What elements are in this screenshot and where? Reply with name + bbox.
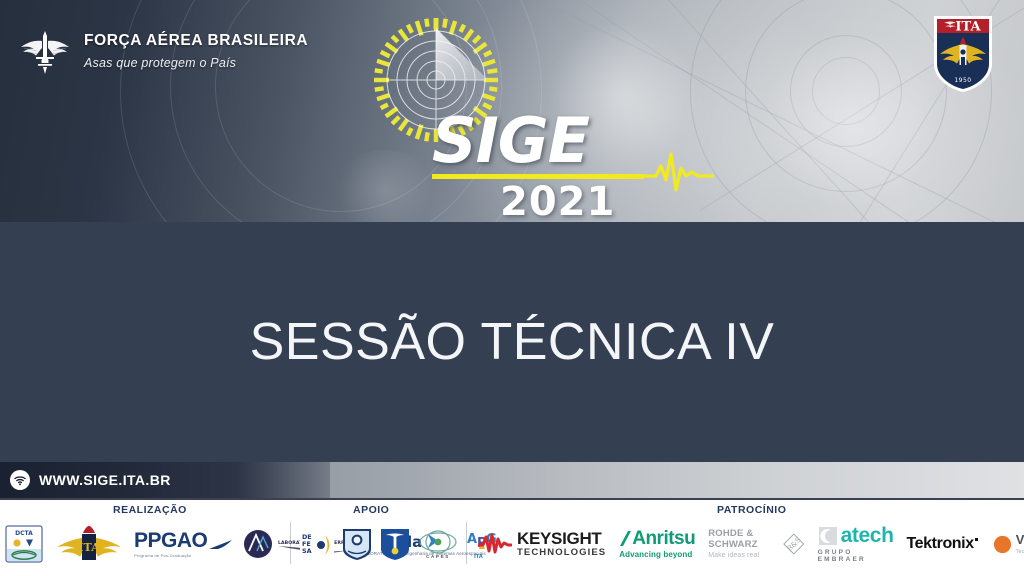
ppgao-swoosh-icon bbox=[208, 537, 234, 551]
apoio-shield-2-logo[interactable] bbox=[380, 527, 410, 561]
visiona-logo[interactable]: VISIONA Tecnologia Espacial bbox=[993, 533, 1024, 555]
keysight-wave-icon bbox=[478, 533, 512, 555]
website-link[interactable]: WWW.SIGE.ITA.BR bbox=[10, 462, 171, 498]
ppgao-logo[interactable]: PPGAO Programa de Pós-Graduação bbox=[134, 530, 234, 558]
ita-wings-logo[interactable]: ITA bbox=[53, 525, 125, 563]
visiona-tagline: Tecnologia Espacial bbox=[1016, 549, 1024, 555]
svg-text:SA: SA bbox=[302, 547, 312, 555]
rohde-schwarz-logo[interactable]: ROHDE & SCHWARZ Make ideas real bbox=[708, 529, 770, 559]
tektronix-tick-icon bbox=[975, 537, 980, 551]
svg-text:ITA: ITA bbox=[955, 20, 981, 35]
fab-title: FORÇA AÉREA BRASILEIRA bbox=[84, 32, 308, 50]
section-label-patrocinio: PATROCÍNIO bbox=[717, 504, 786, 516]
sige-year: 2021 bbox=[500, 182, 615, 222]
svg-text:1950: 1950 bbox=[954, 77, 971, 84]
presentation-slide: FORÇA AÉREA BRASILEIRA Asas que protegem… bbox=[0, 0, 1024, 576]
ministerio-defesa-logo[interactable]: DE FE SA bbox=[300, 527, 334, 561]
keysight-wordmark: KEYSIGHT bbox=[517, 530, 606, 548]
atech-logo[interactable]: atech GRUPO EMBRAER bbox=[818, 525, 894, 563]
apoio-shield-1-logo[interactable] bbox=[342, 527, 372, 561]
atech-tagline: GRUPO EMBRAER bbox=[818, 549, 894, 563]
anritsu-logo[interactable]: Anritsu Advancing beyond bbox=[619, 529, 695, 559]
ppgao-caption: Programa de Pós-Graduação bbox=[134, 553, 191, 558]
atech-mark-icon bbox=[818, 526, 838, 546]
apoio-logo-group: DE FE SA bbox=[300, 520, 500, 568]
fab-wordmark: FORÇA AÉREA BRASILEIRA Asas que protegem… bbox=[84, 32, 308, 70]
sponsor-footer: REALIZAÇÃO APOIO PATROCÍNIO DCTA bbox=[0, 500, 1024, 576]
keysight-logo[interactable]: KEYSIGHT TECHNOLOGIES bbox=[478, 530, 606, 559]
fab-emblem-icon bbox=[14, 28, 76, 76]
section-label-realizacao: REALIZAÇÃO bbox=[113, 504, 187, 516]
pulse-waveform-icon bbox=[642, 148, 714, 194]
website-url: WWW.SIGE.ITA.BR bbox=[39, 472, 171, 488]
visiona-wordmark: VISIONA bbox=[1016, 533, 1024, 546]
fab-subtitle: Asas que protegem o País bbox=[84, 56, 308, 70]
website-bar: WWW.SIGE.ITA.BR bbox=[0, 462, 1024, 500]
header-banner: FORÇA AÉREA BRASILEIRA Asas que protegem… bbox=[0, 0, 1024, 222]
page-title: SESSÃO TÉCNICA IV bbox=[0, 222, 1024, 462]
lge-emblem-icon bbox=[243, 529, 273, 559]
rohde-schwarz-diamond-icon[interactable]: R&S bbox=[783, 527, 805, 561]
section-label-apoio: APOIO bbox=[353, 504, 389, 516]
visiona-mark-icon bbox=[993, 535, 1012, 554]
capes-logo[interactable]: CAPES bbox=[418, 530, 458, 559]
dcta-logo[interactable]: DCTA bbox=[4, 524, 44, 564]
svg-text:R&S: R&S bbox=[786, 536, 803, 553]
keysight-tagline: TECHNOLOGIES bbox=[517, 547, 606, 558]
capes-wordmark: CAPES bbox=[426, 554, 450, 559]
rohde-schwarz-tagline: Make ideas real bbox=[708, 552, 770, 559]
capes-mark-icon bbox=[418, 530, 458, 554]
svg-text:A: A bbox=[467, 532, 477, 547]
ppgao-wordmark: PPGAO bbox=[134, 530, 207, 551]
title-band: SESSÃO TÉCNICA IV bbox=[0, 222, 1024, 462]
sige-logo: SIGE 2021 bbox=[370, 14, 670, 214]
tektronix-logo[interactable]: Tektronix bbox=[907, 535, 980, 553]
svg-text:ITA: ITA bbox=[78, 541, 100, 554]
anritsu-slash-icon bbox=[619, 530, 632, 547]
atech-wordmark: atech bbox=[841, 525, 894, 546]
rohde-schwarz-wordmark: ROHDE & SCHWARZ bbox=[708, 529, 770, 550]
anritsu-tagline: Advancing beyond bbox=[619, 550, 695, 559]
svg-text:DCTA: DCTA bbox=[15, 530, 33, 537]
wifi-icon bbox=[10, 470, 30, 490]
patrocinio-logo-group: KEYSIGHT TECHNOLOGIES Anritsu Advancing … bbox=[478, 520, 1024, 568]
sige-wordmark: SIGE bbox=[432, 110, 589, 172]
ita-shield-logo: ITA 1950 bbox=[932, 14, 994, 94]
tektronix-wordmark: Tektronix bbox=[907, 535, 974, 553]
anritsu-wordmark: Anritsu bbox=[632, 529, 695, 548]
texture-glow-2 bbox=[760, 30, 940, 210]
